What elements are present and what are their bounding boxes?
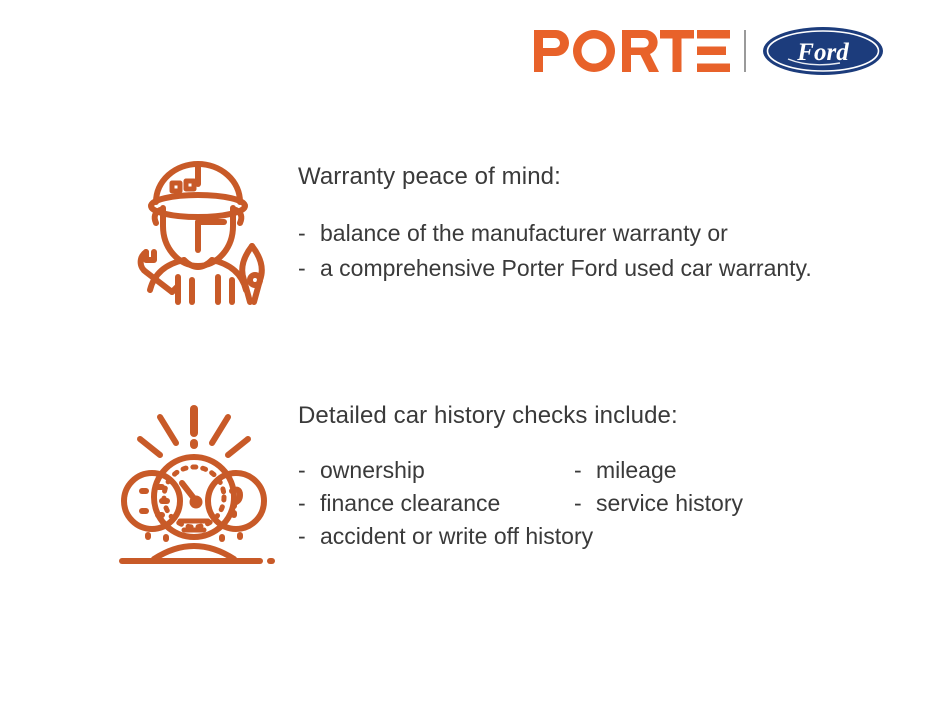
ford-script-text: Ford: [796, 39, 849, 66]
logo-divider: [744, 30, 746, 72]
bullet-dash: -: [298, 521, 320, 552]
warranty-bullet-list: - balance of the manufacturer warranty o…: [298, 218, 812, 284]
brand-logo-lockup: Ford: [534, 22, 884, 80]
history-heading: Detailed car history checks include:: [298, 401, 743, 431]
section-history: Detailed car history checks include: - o…: [104, 395, 743, 573]
list-item: - finance clearance - service history: [298, 488, 743, 519]
list-item: - accident or write off history: [298, 521, 743, 552]
bullet-dash: -: [298, 488, 320, 519]
bullet-label: accident or write off history: [320, 521, 593, 552]
mechanic-icon: [112, 140, 284, 308]
bullet-label: mileage: [596, 455, 677, 486]
bullet-dash: -: [298, 253, 320, 284]
warranty-heading: Warranty peace of mind:: [298, 162, 812, 192]
bullet-label: a comprehensive Porter Ford used car war…: [320, 253, 812, 284]
bullet-dash: -: [298, 455, 320, 486]
warranty-text-column: Warranty peace of mind: - balance of the…: [298, 140, 812, 284]
section-warranty: Warranty peace of mind: - balance of the…: [112, 140, 812, 308]
list-item: - a comprehensive Porter Ford used car w…: [298, 253, 812, 284]
bullet-label: finance clearance: [320, 488, 500, 519]
bullet-label: ownership: [320, 455, 425, 486]
bullet-dash: -: [298, 218, 320, 249]
bullet-label: balance of the manufacturer warranty or: [320, 218, 728, 249]
porter-wordmark: [534, 30, 730, 72]
bullet-dash: -: [574, 488, 596, 519]
list-item: - balance of the manufacturer warranty o…: [298, 218, 812, 249]
history-text-column: Detailed car history checks include: - o…: [298, 395, 743, 552]
bullet-dash: -: [574, 455, 596, 486]
dashboard-gauges-icon: [104, 395, 284, 573]
list-item: - ownership - mileage: [298, 455, 743, 486]
bullet-label: service history: [596, 488, 743, 519]
history-bullet-list: - ownership - mileage - finance clearanc…: [298, 455, 743, 552]
ford-oval-logo: Ford: [762, 26, 884, 76]
